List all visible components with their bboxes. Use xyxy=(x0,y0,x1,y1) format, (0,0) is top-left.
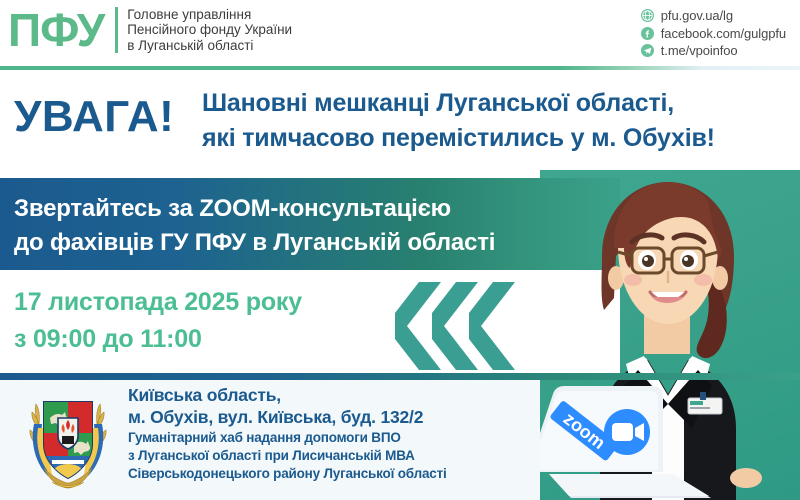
cta-line-2: до фахівців ГУ ПФУ в Луганській області xyxy=(14,226,495,260)
banner-header: ПФУ Головне управління Пенсійного фонду … xyxy=(0,0,800,68)
contact-website[interactable]: pfu.gov.ua/lg xyxy=(641,7,786,25)
logo-divider xyxy=(115,7,118,53)
headline-section: УВАГА! Шановні мешканці Луганської облас… xyxy=(0,72,800,170)
headline-line-1: Шановні мешканці Луганської області, xyxy=(202,86,715,121)
telegram-label: t.me/vpoinfoo xyxy=(661,43,738,58)
announcement-banner: ПФУ Головне управління Пенсійного фонду … xyxy=(0,0,800,500)
headline-text: Шановні мешканці Луганської області, які… xyxy=(202,86,715,156)
pfu-logo-text: ПФУ xyxy=(8,4,104,56)
telegram-icon xyxy=(641,44,654,57)
address-section: Київська область, м. Обухів, вул. Київсь… xyxy=(0,380,540,500)
cta-text: Звертайтесь за ZOOM-консультацією до фах… xyxy=(14,192,495,260)
chevron-left-icon-3 xyxy=(469,282,515,370)
schedule-text: 17 листопада 2025 року з 09:00 до 11:00 xyxy=(14,284,302,358)
footer-divider-bar xyxy=(0,373,800,380)
org-line-3: в Луганській області xyxy=(127,38,292,54)
header-divider-rule xyxy=(0,66,800,70)
luhansk-oblast-coat-of-arms-icon xyxy=(18,388,118,492)
pfu-logo: ПФУ Головне управління Пенсійного фонду … xyxy=(8,4,292,56)
address-line-1: Київська область, xyxy=(128,384,447,406)
website-label: pfu.gov.ua/lg xyxy=(661,8,733,23)
attention-word: УВАГА! xyxy=(14,92,174,142)
schedule-time: з 09:00 до 11:00 xyxy=(14,321,302,358)
chevron-arrows xyxy=(395,282,545,370)
org-line-2: Пенсійного фонду України xyxy=(127,22,292,38)
cta-line-1: Звертайтесь за ZOOM-консультацією xyxy=(14,192,495,226)
cta-band: Звертайтесь за ZOOM-консультацією до фах… xyxy=(0,178,620,270)
contact-links: pfu.gov.ua/lg facebook.com/gulgpfu t.me/… xyxy=(641,7,786,60)
facebook-icon xyxy=(641,27,654,40)
contact-facebook[interactable]: facebook.com/gulgpfu xyxy=(641,25,786,43)
schedule-date: 17 листопада 2025 року xyxy=(14,284,302,321)
address-text: Київська область, м. Обухів, вул. Київсь… xyxy=(128,384,447,482)
globe-icon xyxy=(641,9,654,22)
headline-line-2: які тимчасово перемістились у м. Обухів! xyxy=(202,121,715,156)
address-line-5: Сіверськодонецького району Луганської об… xyxy=(128,465,447,482)
address-line-4: з Луганської області при Лисичанській МВ… xyxy=(128,447,447,464)
address-line-3: Гуманітарний хаб надання допомоги ВПО xyxy=(128,429,447,446)
address-line-2: м. Обухів, вул. Київська, буд. 132/2 xyxy=(128,406,447,428)
facebook-label: facebook.com/gulgpfu xyxy=(661,26,786,41)
org-line-1: Головне управління xyxy=(127,7,292,23)
organization-name: Головне управління Пенсійного фонду Укра… xyxy=(127,7,292,54)
contact-telegram[interactable]: t.me/vpoinfoo xyxy=(641,42,786,60)
zoom-video-icon xyxy=(604,409,650,455)
